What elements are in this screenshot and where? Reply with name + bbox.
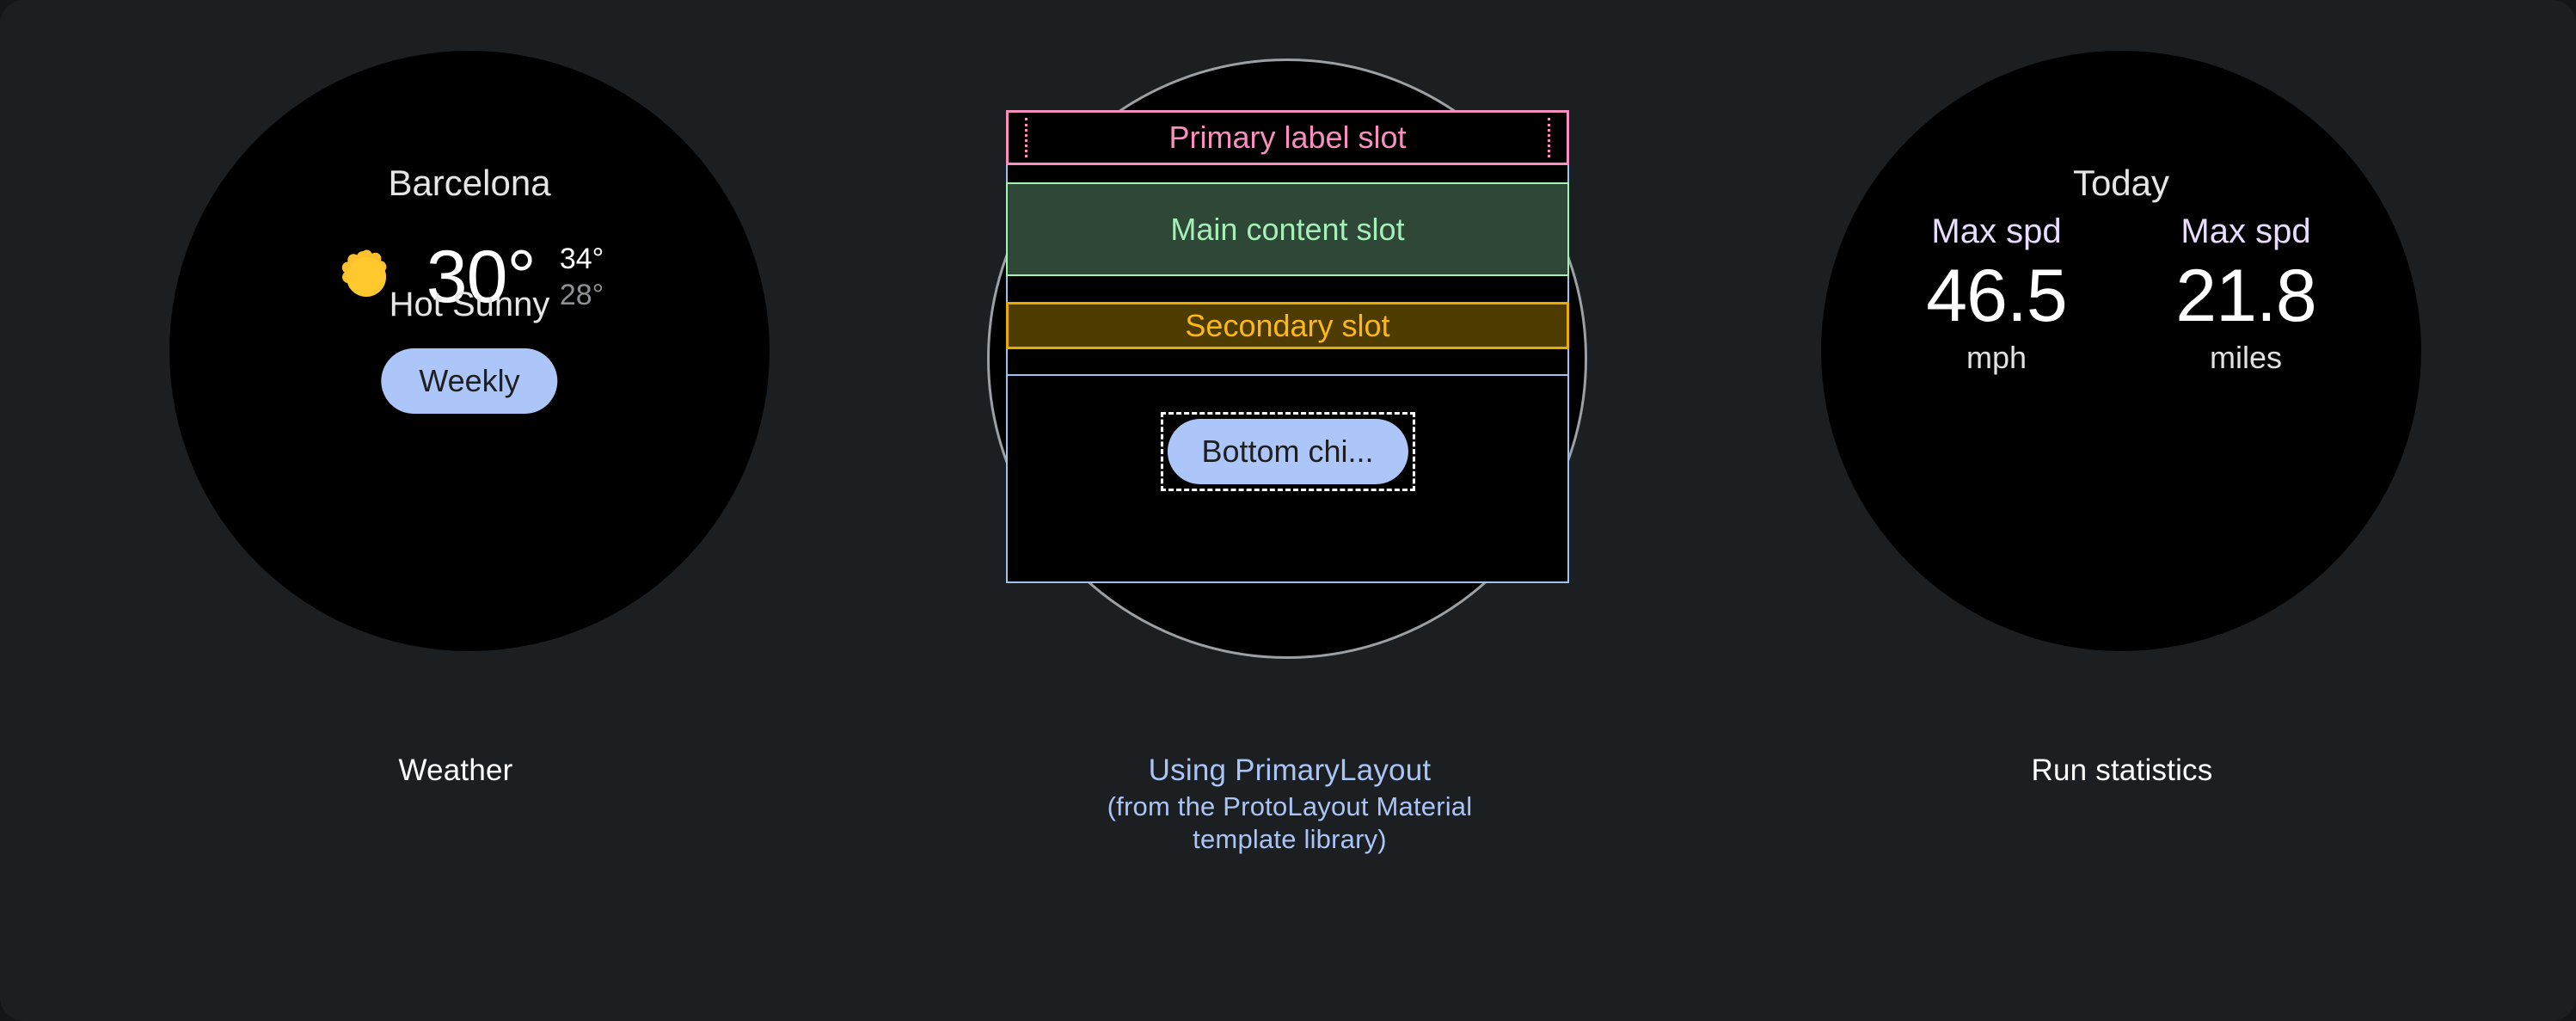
runstats-right-unit: miles (2121, 337, 2371, 378)
bottom-chip-button[interactable]: Bottom chi... (1167, 419, 1408, 484)
primary-slot-left-margin-guide (1025, 118, 1027, 157)
runstats-column-left: Max spd 46.5 mph (1872, 208, 2121, 378)
caption-primary-layout-sub2: template library) (911, 823, 1668, 856)
caption-primary-layout-sub1: (from the ProtoLayout Material (911, 790, 1668, 823)
weather-high-temp: 34° (560, 241, 604, 277)
caption-primary-layout: Using PrimaryLayout (from the ProtoLayou… (911, 751, 1668, 856)
slot-main-label-text: Main content slot (1170, 212, 1404, 248)
slot-secondary[interactable]: Secondary slot (1006, 302, 1569, 349)
runstats-left-unit: mph (1872, 337, 2121, 378)
panel-weather: Barcelona 30° 34° 28° Hot Sunny Weekly W… (0, 0, 911, 1021)
runstats-columns: Max spd 46.5 mph Max spd 21.8 miles (1855, 208, 2387, 378)
weather-condition-label: Hot Sunny (169, 286, 770, 324)
slot-diagram: Primary label slot Main content slot Sec… (1006, 110, 1569, 583)
slot-primary-label[interactable]: Primary label slot (1006, 110, 1569, 165)
runstats-title: Today (1821, 163, 2421, 204)
bottom-chip-bounds: Bottom chi... (1160, 412, 1414, 491)
panel-run-statistics: Today Max spd 46.5 mph Max spd 21.8 mile… (1668, 0, 2576, 1021)
runstats-left-value: 46.5 (1872, 255, 2121, 337)
caption-primary-layout-main: Using PrimaryLayout (1149, 753, 1432, 787)
runstats-right-value: 21.8 (2121, 255, 2371, 337)
primary-slot-right-margin-guide (1548, 118, 1550, 157)
caption-run-statistics: Run statistics (1668, 751, 2576, 790)
watch-face-runstats: Today Max spd 46.5 mph Max spd 21.8 mile… (1821, 51, 2421, 651)
slot-secondary-label-text: Secondary slot (1185, 308, 1389, 344)
runstats-column-right: Max spd 21.8 miles (2121, 208, 2371, 378)
weekly-chip-button[interactable]: Weekly (381, 348, 557, 414)
slot-primary-label-text: Primary label slot (1168, 120, 1406, 156)
watch-face-weather: Barcelona 30° 34° 28° Hot Sunny Weekly (169, 51, 770, 651)
runstats-right-label: Max spd (2121, 208, 2371, 255)
caption-weather: Weather (0, 751, 911, 790)
page-root: Barcelona 30° 34° 28° Hot Sunny Weekly W… (0, 0, 2576, 1021)
runstats-left-label: Max spd (1872, 208, 2121, 255)
slot-main-content[interactable]: Main content slot (1006, 182, 1569, 276)
panel-primary-layout: Primary label slot Main content slot Sec… (911, 0, 1668, 1021)
weather-city-label: Barcelona (169, 163, 770, 204)
